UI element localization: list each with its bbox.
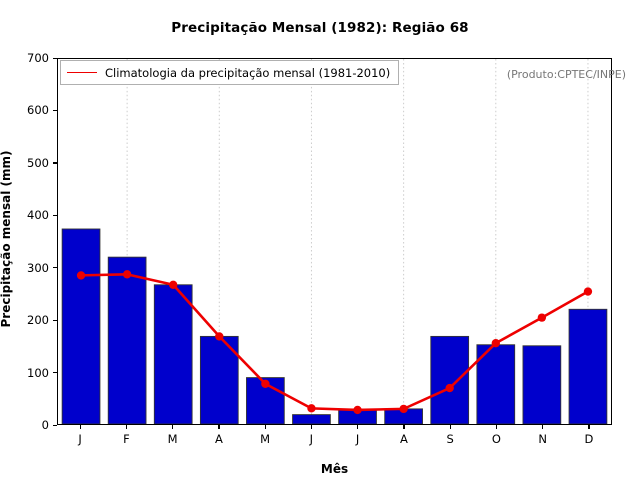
- x-tick-label-M-2: M: [168, 432, 178, 446]
- x-tick-label-J-6: J: [356, 432, 359, 446]
- y-tick-mark: [53, 162, 57, 163]
- x-tick-mark: [542, 425, 543, 429]
- y-tick-mark: [53, 320, 57, 321]
- x-tick-label-S-8: S: [446, 432, 453, 446]
- y-tick-label-400: 400: [0, 208, 49, 222]
- x-tick-label-A-7: A: [400, 432, 408, 446]
- climatology-marker-J-0: [77, 271, 85, 279]
- y-tick-label-600: 600: [0, 103, 49, 117]
- y-tick-label-200: 200: [0, 313, 49, 327]
- x-tick-mark: [403, 425, 404, 429]
- x-tick-mark: [357, 425, 358, 429]
- climatology-marker-O-9: [492, 339, 500, 347]
- y-tick-mark: [53, 425, 57, 426]
- bar-J-5: [293, 415, 331, 424]
- climatology-marker-A-3: [215, 332, 223, 340]
- x-tick-label-D-11: D: [584, 432, 593, 446]
- climatology-marker-N-10: [538, 313, 546, 321]
- x-tick-label-O-9: O: [492, 432, 501, 446]
- bar-M-2: [154, 285, 192, 424]
- x-tick-label-M-4: M: [260, 432, 270, 446]
- x-tick-label-J-5: J: [310, 432, 313, 446]
- plot-area: [57, 58, 612, 425]
- bar-S-8: [431, 336, 469, 424]
- gridlines: [127, 59, 588, 424]
- x-tick-mark: [126, 425, 127, 429]
- y-axis-label: Precipitação mensal (mm): [0, 0, 13, 489]
- y-tick-label-0: 0: [0, 418, 49, 432]
- x-tick-mark: [218, 425, 219, 429]
- y-tick-label-500: 500: [0, 156, 49, 170]
- legend-box: Climatologia da precipitação mensal (198…: [60, 60, 399, 85]
- climatology-marker-M-2: [169, 281, 177, 289]
- bar-N-10: [523, 346, 561, 424]
- bar-F-1: [108, 257, 146, 424]
- bar-D-11: [569, 309, 607, 424]
- climatology-marker-D-11: [584, 287, 592, 295]
- x-axis-label: Mês: [57, 462, 612, 476]
- x-tick-mark: [450, 425, 451, 429]
- y-tick-mark: [53, 215, 57, 216]
- climatology-marker-A-7: [399, 405, 407, 413]
- x-tick-mark: [265, 425, 266, 429]
- produto-annotation: (Produto:CPTEC/INPE): [507, 68, 626, 81]
- climatology-marker-J-6: [353, 406, 361, 414]
- x-tick-mark: [496, 425, 497, 429]
- climatology-marker-M-4: [261, 380, 269, 388]
- y-tick-label-300: 300: [0, 261, 49, 275]
- climatology-marker-F-1: [123, 270, 131, 278]
- y-tick-mark: [53, 110, 57, 111]
- y-tick-mark: [53, 58, 57, 59]
- climatology-marker-J-5: [307, 404, 315, 412]
- chart-title: Precipitação Mensal (1982): Região 68: [0, 20, 640, 36]
- y-tick-label-700: 700: [0, 51, 49, 65]
- x-tick-mark: [588, 425, 589, 429]
- x-tick-mark: [172, 425, 173, 429]
- plot-canvas: [58, 59, 611, 424]
- legend-label: Climatologia da precipitação mensal (198…: [105, 66, 390, 80]
- bar-J-0: [62, 229, 100, 424]
- x-tick-label-N-10: N: [538, 432, 547, 446]
- x-tick-label-A-3: A: [215, 432, 223, 446]
- y-tick-label-100: 100: [0, 366, 49, 380]
- x-tick-label-J-0: J: [78, 432, 81, 446]
- x-tick-mark: [311, 425, 312, 429]
- y-tick-mark: [53, 267, 57, 268]
- chart-figure: Precipitação Mensal (1982): Região 68 Pr…: [0, 0, 640, 500]
- y-tick-mark: [53, 372, 57, 373]
- x-tick-mark: [80, 425, 81, 429]
- x-tick-label-F-1: F: [123, 432, 130, 446]
- climatology-marker-S-8: [446, 384, 454, 392]
- legend-line-swatch: [67, 72, 97, 73]
